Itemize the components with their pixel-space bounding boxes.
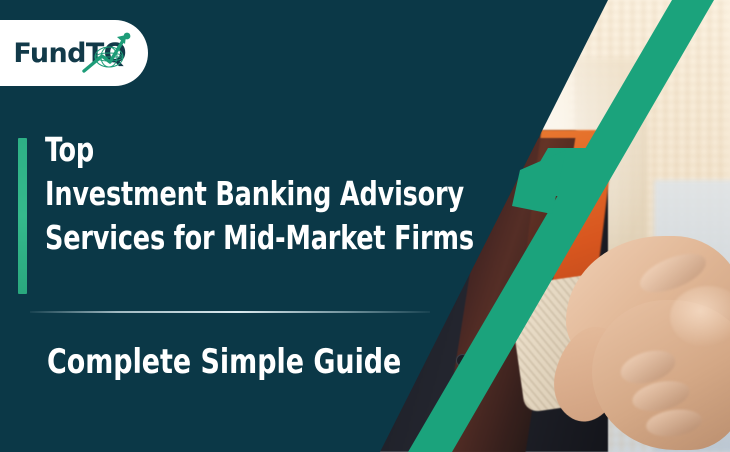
logo-text-fund: Fund [13,38,85,69]
fundtq-logo[interactable]: FundTQ [0,20,148,86]
headline-line-3: Services for Mid-Market Firms [45,216,449,260]
headline-line-1: Top [45,128,449,172]
growth-arrow-globe-icon [80,29,132,73]
page-title: Top Investment Banking Advisory Services… [45,128,515,260]
subtitle: Complete Simple Guide [47,340,401,384]
headline-line-2: Investment Banking Advisory [45,172,449,216]
marketing-banner: FundTQ Top Investment Banking Advisory S… [0,0,730,452]
logo-mark: FundTQ [13,33,126,73]
vertical-accent-bar [18,138,27,294]
sleeve-buttons [456,352,508,368]
horizontal-rule [30,311,430,313]
